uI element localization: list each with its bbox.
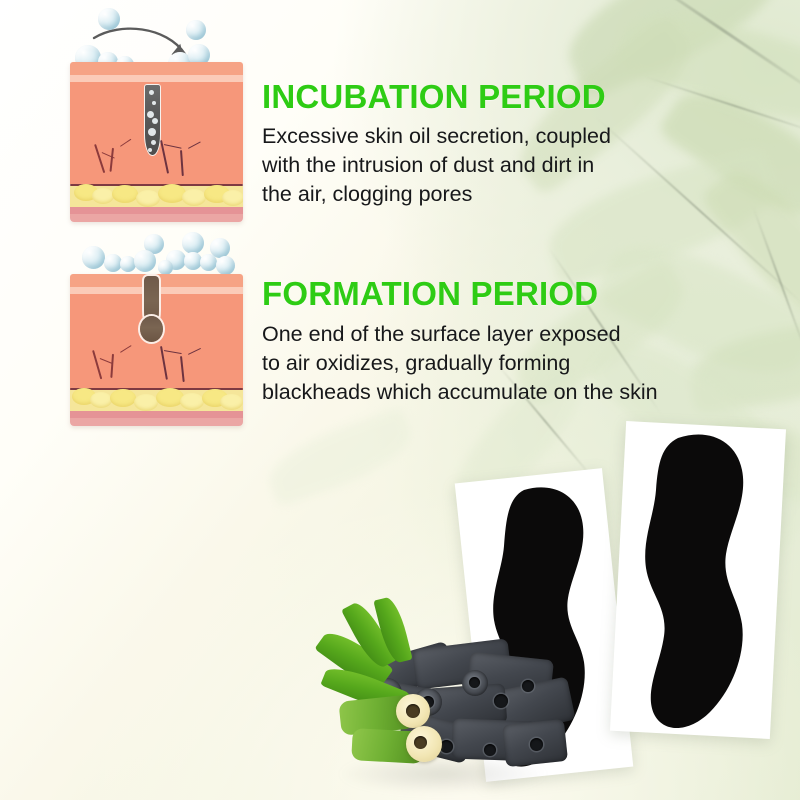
section-body-formation: One end of the surface layer exposed to … [262,320,702,407]
section-heading-incubation: INCUBATION PERIOD [262,78,606,116]
charcoal-hole [494,694,508,708]
charcoal-hole [484,744,496,756]
background-leaf [656,70,800,243]
section-body-incubation: Excessive skin oil secretion, coupled wi… [262,122,662,209]
sebum-speck [152,118,158,124]
fat-globule [92,188,114,204]
skin-diagram-incubation [70,0,245,228]
oil-bubble [182,232,204,254]
blood-vessel-group [70,144,243,186]
fat-globule [136,190,160,207]
fat-globule [110,389,136,407]
epidermis-layer [70,62,243,75]
ingredient-photo-bamboo-charcoal [318,614,568,800]
sebum-speck [152,101,156,105]
oil-bubble [186,20,206,40]
nose-strip-right [620,428,780,738]
fat-globule [182,189,206,206]
skin-cross-section [70,62,243,222]
oil-bubble [98,8,120,30]
background-twig [621,0,800,102]
muscle-layer-light [70,418,243,426]
skin-diagram-formation [70,232,245,428]
oil-bubble [158,260,173,275]
fat-globule [180,393,204,410]
sebum-speck [149,90,154,95]
oil-bubble [82,246,105,269]
oil-bubble [216,256,235,275]
bamboo-hollow-core [406,704,420,718]
background-twig [752,205,800,356]
background-leaf [686,318,800,414]
background-leaf [699,154,800,347]
section-heading-formation: FORMATION PERIOD [262,275,598,313]
fat-globule [134,394,158,411]
oil-bubble [134,250,156,272]
background-leaf [260,406,419,508]
charcoal-hole [522,680,534,692]
bamboo-hollow-core [414,736,427,749]
fat-globule [112,185,138,203]
skin-cross-section [70,274,243,426]
epidermis-light-layer [70,75,243,82]
oil-bubble [200,254,217,271]
charcoal-hole [469,677,480,688]
fat-globule [90,392,112,408]
background-twig [644,76,800,137]
fat-globule [220,394,243,410]
product-infographic-poster: INCUBATION PERIOD Excessive skin oil sec… [0,0,800,800]
blood-vessel-group [70,350,243,392]
sebum-speck [148,128,156,136]
muscle-layer-light [70,214,243,222]
fat-globule [222,190,243,206]
sebum-speck [147,111,154,118]
blackhead-plug-bulb [140,316,163,342]
charcoal-hole [530,738,543,751]
